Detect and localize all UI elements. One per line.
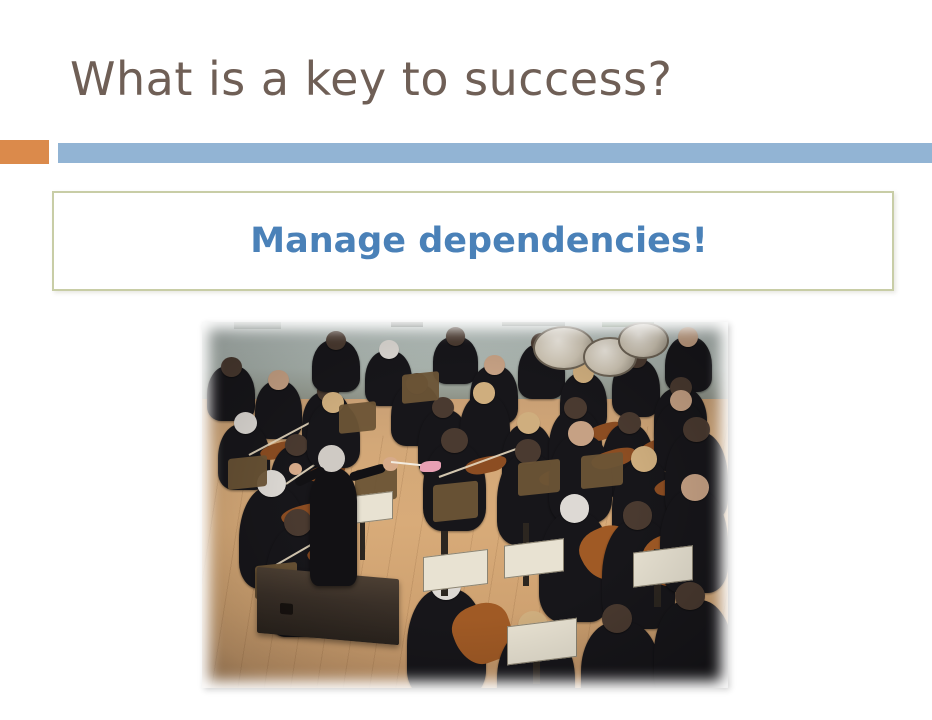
callout-text: Manage dependencies! [54,193,892,289]
divider-rule-blue [58,143,932,163]
photo-vignette [202,322,728,688]
slide-canvas: What is a key to success? Manage depende… [0,0,932,720]
page-title: What is a key to success? [70,48,890,110]
accent-rule-orange [0,140,49,164]
orchestra-photo [202,322,728,688]
callout-box: Manage dependencies! [52,191,894,291]
